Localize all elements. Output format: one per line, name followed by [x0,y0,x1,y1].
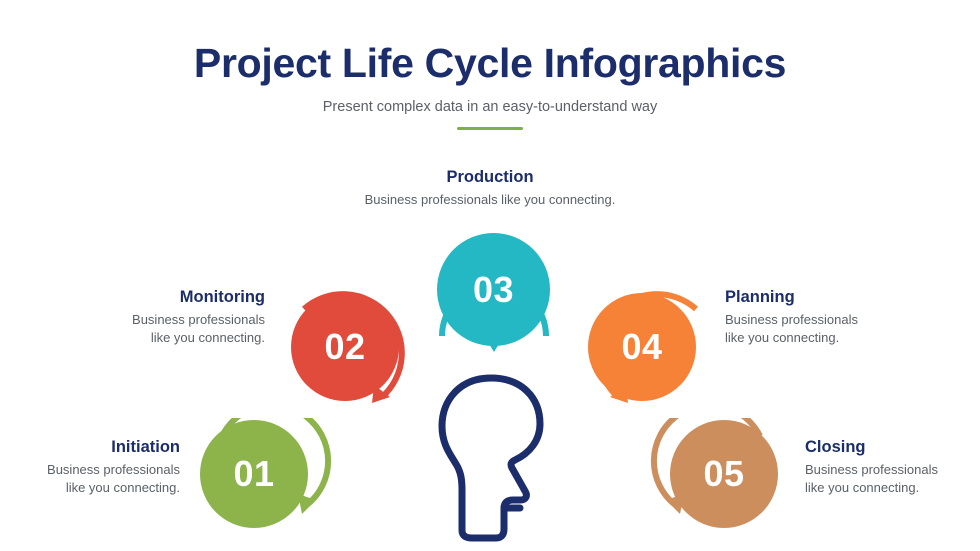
step-03-circle[interactable]: 03 [437,233,550,346]
step-02-label: Monitoring Business professionals like y… [40,288,265,346]
step-02-desc-line1: Business professionals [40,311,265,329]
step-01-label: Initiation Business professionals like y… [0,438,180,496]
step-02-name: Monitoring [40,288,265,307]
step-04-label: Planning Business professionals like you… [725,288,955,346]
step-05-desc-line2: like you connecting. [805,479,980,497]
title-divider [457,127,523,130]
step-03-name: Production [290,168,690,187]
step-02-desc-line2: like you connecting. [40,329,265,347]
page-subtitle: Present complex data in an easy-to-under… [0,99,980,115]
step-01-circle[interactable]: 01 [200,420,308,528]
step-05-desc-line1: Business professionals [805,461,980,479]
infographic-slide: Project Life Cycle Infographics Present … [0,0,980,551]
step-04-desc-line2: like you connecting. [725,329,955,347]
step-01-number: 01 [233,456,274,492]
step-01-name: Initiation [0,438,180,457]
step-05-number: 05 [703,456,744,492]
step-05-circle[interactable]: 05 [670,420,778,528]
step-04-circle[interactable]: 04 [588,293,696,401]
step-05-name: Closing [805,438,980,457]
page-title: Project Life Cycle Infographics [0,40,980,87]
step-04-desc-line1: Business professionals [725,311,955,329]
step-04-number: 04 [621,329,662,365]
step-03-number: 03 [473,272,514,308]
step-03-desc: Business professionals like you connecti… [290,191,690,209]
step-05-label: Closing Business professionals like you … [805,438,980,496]
step-02-number: 02 [324,329,365,365]
step-03-label: Production Business professionals like y… [290,168,690,209]
step-04-name: Planning [725,288,955,307]
step-01-desc-line1: Business professionals [0,461,180,479]
step-02-circle[interactable]: 02 [291,293,399,401]
step-01-desc-line2: like you connecting. [0,479,180,497]
head-profile-icon [434,372,552,542]
